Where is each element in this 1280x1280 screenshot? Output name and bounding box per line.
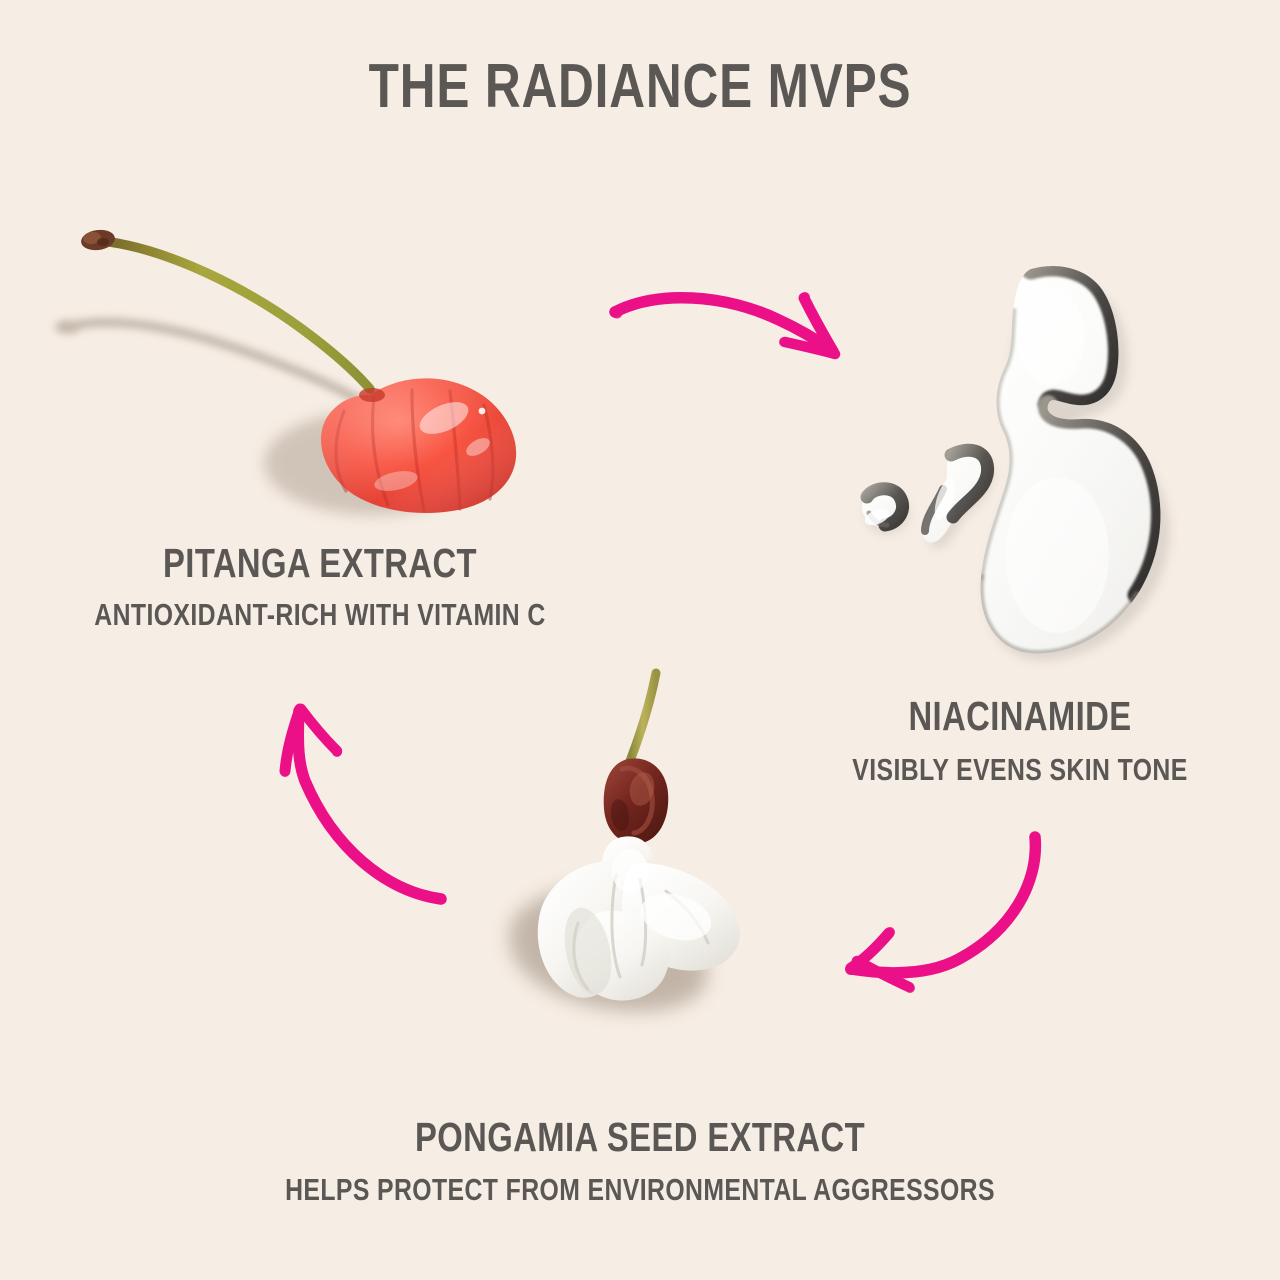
pongamia-bud	[604, 758, 669, 843]
gel-droplet-small	[862, 487, 909, 534]
pongamia-seed-body	[538, 836, 740, 1000]
pitanga-fruit-image	[40, 215, 540, 515]
curved-arrow-right-icon	[595, 268, 875, 378]
pitanga-stem-shadow	[55, 320, 385, 415]
pitanga-stem-tip	[80, 228, 116, 253]
pitanga-description-label: ANTIOXIDANT-RICH WITH VITAMIN C	[64, 597, 576, 633]
niacinamide-name-label: NIACINAMIDE	[812, 693, 1228, 739]
pongamia-seed-image	[470, 665, 790, 1045]
page-title: THE RADIANCE MVPS	[128, 52, 1152, 122]
pongamia-stem	[630, 673, 656, 761]
pitanga-stem	[110, 242, 370, 389]
niacinamide-description-label: VISIBLY EVENS SKIN TONE	[812, 752, 1228, 788]
curved-arrow-up-left-icon	[265, 685, 475, 925]
pitanga-name-label: PITANGA EXTRACT	[64, 540, 576, 586]
ingredient-infographic: THE RADIANCE MVPS	[0, 0, 1280, 1280]
gel-droplet-large	[922, 450, 993, 548]
curved-arrow-down-left-icon	[825, 825, 1065, 1015]
gel-puddle-main	[980, 266, 1160, 653]
niacinamide-gel-image	[845, 255, 1225, 665]
pongamia-name-label: PONGAMIA SEED EXTRACT	[128, 1114, 1152, 1160]
pongamia-description-label: HELPS PROTECT FROM ENVIRONMENTAL AGGRESS…	[128, 1172, 1152, 1208]
